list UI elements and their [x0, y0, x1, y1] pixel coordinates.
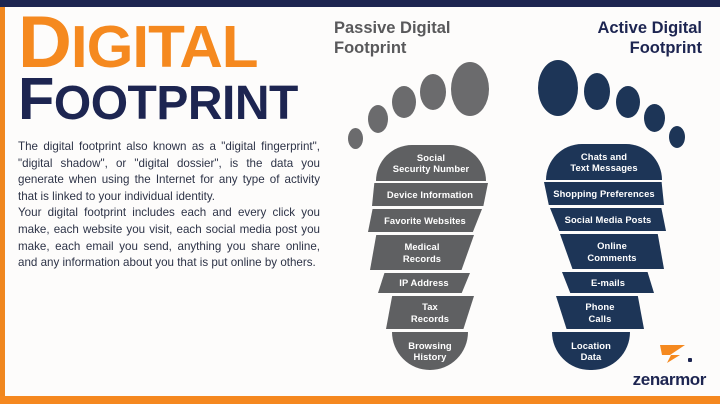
- active-toe-4: [644, 104, 665, 132]
- passive-band-1-label: Device Information: [376, 189, 484, 200]
- intro-paragraph-2: Your digital footprint includes each and…: [18, 205, 320, 271]
- active-toe-1-big: [538, 60, 578, 116]
- passive-band-6-line2: History: [396, 351, 464, 362]
- passive-band-4-label: IP Address: [382, 277, 466, 288]
- passive-band-0-line2: Security Number: [380, 163, 482, 174]
- passive-band-0-line1: Social: [380, 152, 482, 163]
- intro-panel: DIGITAL FOOTPRINT The digital footprint …: [18, 14, 328, 394]
- left-accent-strip: [0, 7, 5, 397]
- passive-band-5-line2: Records: [390, 313, 470, 324]
- passive-footprint-column: Passive Digital Footprint Social Securit…: [330, 0, 510, 404]
- passive-heading-line-2: Footprint: [334, 38, 512, 58]
- active-toe-5: [669, 126, 685, 148]
- active-toe-2: [584, 73, 610, 110]
- passive-toe-2: [420, 74, 446, 110]
- zenarmor-mark-dot-icon: [688, 358, 692, 362]
- zenarmor-wordmark: zenarmor: [633, 370, 706, 390]
- active-heading: Active Digital Footprint: [520, 18, 702, 58]
- intro-paragraph-1: The digital footprint also known as a "d…: [18, 139, 320, 205]
- active-heading-line-1: Active Digital: [520, 18, 702, 38]
- passive-band-1: Device Information: [372, 183, 488, 206]
- active-band-3-line2: Comments: [564, 252, 660, 263]
- active-foot-graphic: Chats and Text Messages Shopping Prefere…: [526, 60, 708, 382]
- active-band-1: Shopping Preferences: [544, 182, 664, 205]
- active-band-1-label: Shopping Preferences: [548, 188, 660, 199]
- passive-band-6: Browsing History: [392, 332, 468, 370]
- passive-toe-5: [348, 128, 363, 149]
- active-band-5-line2: Calls: [560, 313, 640, 324]
- passive-foot-graphic: Social Security Number Device Informatio…: [330, 62, 510, 382]
- active-band-5-line1: Phone: [560, 301, 640, 312]
- passive-heading-line-1: Passive Digital: [334, 18, 512, 38]
- active-band-2: Social Media Posts: [550, 208, 666, 231]
- active-band-5: Phone Calls: [556, 296, 644, 329]
- active-band-0-line2: Text Messages: [550, 162, 658, 173]
- passive-toe-3: [392, 86, 416, 118]
- active-band-3-line1: Online: [564, 240, 660, 251]
- title-line-digital: DIGITAL: [18, 14, 334, 75]
- intro-body: The digital footprint also known as a "d…: [18, 139, 320, 272]
- active-band-0-line1: Chats and: [550, 151, 658, 162]
- active-band-2-label: Social Media Posts: [554, 214, 662, 225]
- passive-band-0: Social Security Number: [376, 145, 486, 181]
- passive-band-2-label: Favorite Websites: [372, 215, 478, 226]
- passive-band-4: IP Address: [378, 273, 470, 293]
- active-band-4-label: E-mails: [566, 277, 650, 288]
- passive-band-5: Tax Records: [386, 296, 474, 329]
- passive-band-6-line1: Browsing: [396, 340, 464, 351]
- passive-heading: Passive Digital Footprint: [334, 18, 512, 58]
- passive-band-3-line1: Medical: [374, 241, 470, 252]
- passive-band-2: Favorite Websites: [368, 209, 482, 232]
- passive-toe-1-big: [451, 62, 489, 116]
- infographic-canvas: DIGITAL FOOTPRINT The digital footprint …: [0, 0, 720, 404]
- zenarmor-logo: zenarmor: [610, 342, 706, 390]
- passive-band-3: Medical Records: [370, 235, 474, 270]
- active-toe-3: [616, 86, 640, 118]
- passive-band-3-line2: Records: [374, 253, 470, 264]
- passive-toe-4: [368, 105, 388, 133]
- passive-band-5-line1: Tax: [390, 301, 470, 312]
- active-band-3: Online Comments: [560, 234, 664, 269]
- active-heading-line-2: Footprint: [520, 38, 702, 58]
- active-band-4: E-mails: [562, 272, 654, 293]
- zenarmor-mark-icon: [658, 342, 688, 364]
- active-band-0: Chats and Text Messages: [546, 144, 662, 180]
